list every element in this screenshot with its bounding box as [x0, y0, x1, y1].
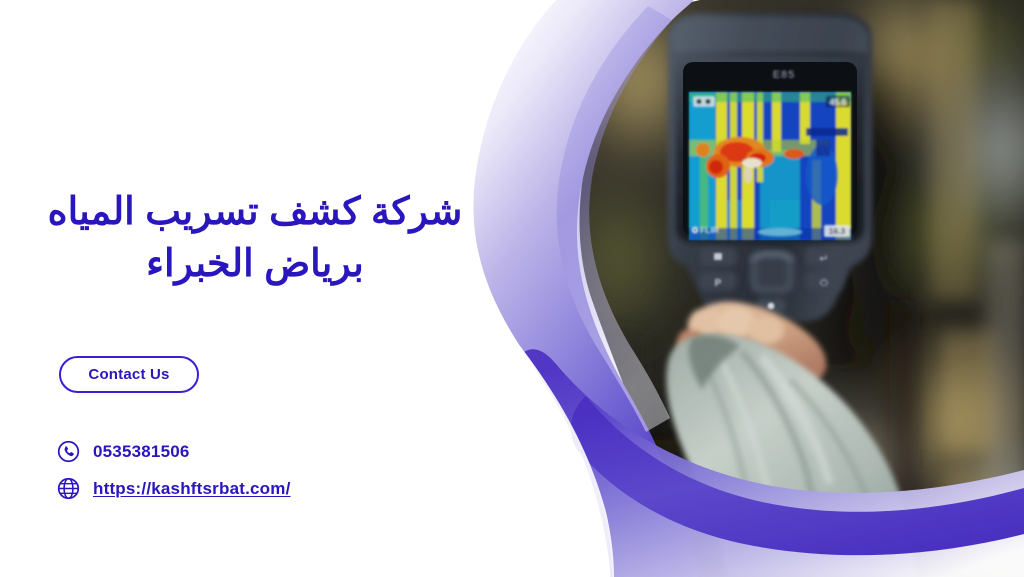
globe-icon [57, 477, 80, 500]
left-content-panel: شركة كشف تسريب المياه برياض الخبراء Cont… [0, 0, 520, 577]
headline-line-2: برياض الخبراء [22, 238, 488, 290]
contact-row-website[interactable]: https://kashftsrbat.com/ [57, 477, 291, 500]
hero-banner: E85 [0, 0, 1024, 577]
headline-line-1: شركة كشف تسريب المياه [22, 186, 488, 238]
contact-row-phone[interactable]: 0535381506 [57, 440, 291, 463]
phone-number[interactable]: 0535381506 [93, 442, 190, 462]
phone-icon [57, 440, 80, 463]
contact-info-list: 0535381506 https://kashftsrbat.com/ [57, 440, 291, 500]
contact-us-button[interactable]: Contact Us [59, 356, 199, 393]
website-url[interactable]: https://kashftsrbat.com/ [93, 479, 291, 499]
page-title: شركة كشف تسريب المياه برياض الخبراء [22, 186, 488, 291]
photo-content: E85 [560, 0, 1024, 577]
